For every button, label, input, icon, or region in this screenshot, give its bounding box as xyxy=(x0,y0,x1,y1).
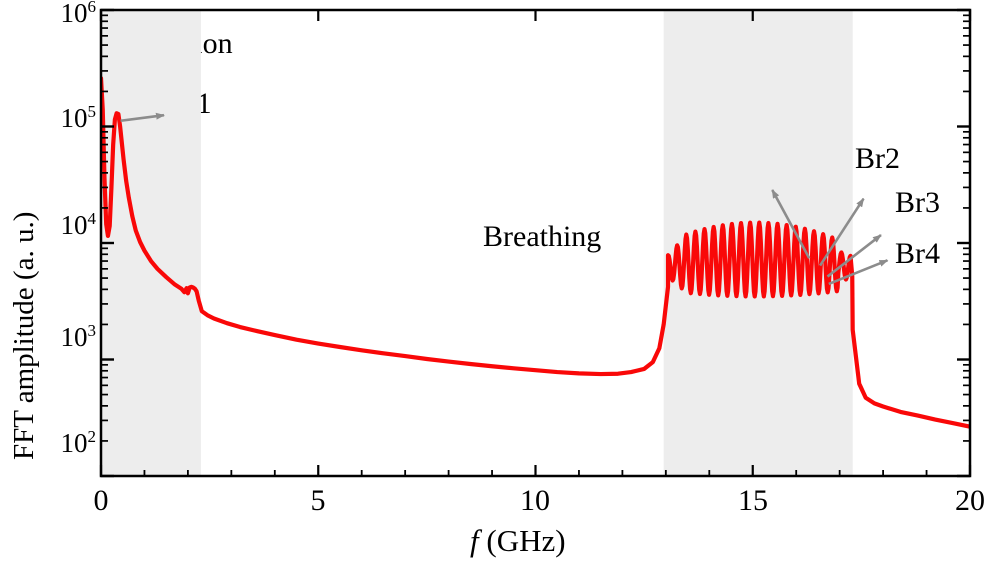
fft-spectrum-figure: FFT amplitude (a. u.) 106 105 104 103 10… xyxy=(0,0,991,574)
gyration-band xyxy=(101,10,201,476)
plot-canvas xyxy=(0,0,991,574)
